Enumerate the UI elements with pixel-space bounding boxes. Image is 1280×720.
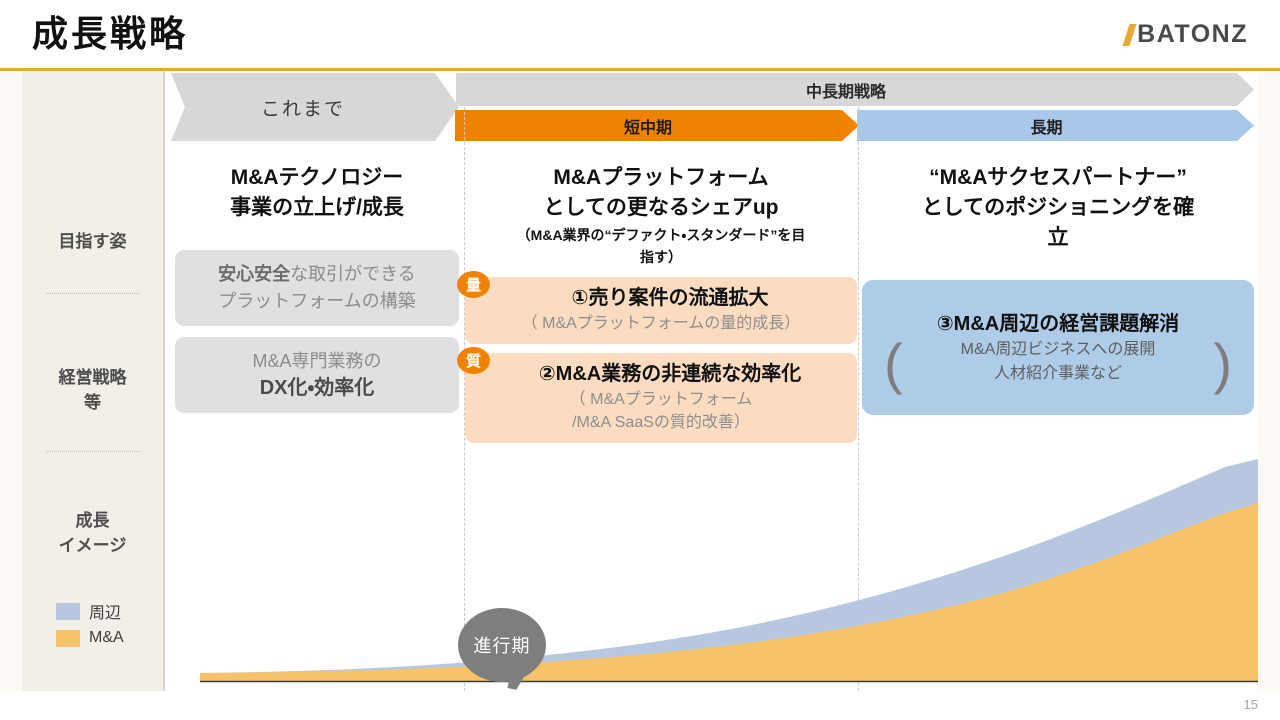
column-long-title-line1: “M&Aサクセスパートナー” xyxy=(862,163,1254,193)
legend-label-ma: M&A xyxy=(89,629,124,647)
long-strategy-sub-line1: M&A周辺ビジネスへの展開 xyxy=(961,338,1156,362)
growth-area-chart: 進行期 xyxy=(165,451,1258,691)
chart-legend: 周辺 M&A xyxy=(56,599,124,647)
phase-chevron-long: 長期 xyxy=(857,110,1254,141)
past-strategy-box-2-line1: M&A専門業務の xyxy=(183,348,451,375)
rail-label-strategy: 経営戦略 等 xyxy=(22,365,163,415)
phase-band-midlong: 中長期戦略 xyxy=(456,73,1254,106)
column-long: “M&Aサクセスパートナー” としてのポジショニングを確 立 ( ) ③M&A周… xyxy=(862,163,1254,415)
column-past-title: M&Aテクノロジー 事業の立上げ/成長 xyxy=(175,163,459,223)
legend-swatch-around xyxy=(56,603,80,620)
long-strategy-box: ( ) ③M&A周辺の経営課題解消 M&A周辺ビジネスへの展開 人材紹介事業など xyxy=(862,280,1254,415)
main-content: 中長期戦略 これまで 短中期 長期 M&Aテクノロジー 事業の立上げ/成長 安心… xyxy=(165,71,1258,691)
past-strategy-box-2: M&A専門業務の DX化・効率化 xyxy=(175,337,459,413)
column-short-mid-subtitle: （M&A業界の“デファクト・スタンダード”を目 指す） xyxy=(465,224,857,268)
legend-swatch-ma xyxy=(56,630,80,647)
column-long-title-line3: 立 xyxy=(862,223,1254,253)
short-mid-item-2-badge: 質 xyxy=(457,347,490,374)
column-long-title: “M&Aサクセスパートナー” としてのポジショニングを確 立 xyxy=(862,163,1254,253)
column-short-mid: M&Aプラットフォーム としての更なるシェアup （M&A業界の“デファクト・ス… xyxy=(465,163,857,443)
short-mid-item-2-sub-line2: /M&A SaaSの質的改善） xyxy=(475,411,847,434)
past-strategy-box-2-line2: DX化・効率化 xyxy=(183,375,451,402)
rail-label-strategy-line2: 等 xyxy=(22,390,163,415)
rail-label-strategy-line1: 経営戦略 xyxy=(22,365,163,390)
column-short-mid-subtitle-line2: 指す） xyxy=(465,246,857,268)
slide-footer: 15 xyxy=(0,691,1280,720)
short-mid-item-1-head: ①売り案件の流通拡大 xyxy=(475,284,847,312)
chart-annotation-label: 進行期 xyxy=(458,608,546,682)
past-strategy-box-1-rest: な取引ができる xyxy=(290,264,416,284)
rail-label-growth-image: 成長 イメージ xyxy=(22,508,163,558)
column-past-title-line1: M&Aテクノロジー xyxy=(175,163,459,193)
growth-chart-svg xyxy=(165,451,1258,691)
phase-banner-row: 中長期戦略 これまで 短中期 長期 xyxy=(165,71,1258,151)
column-short-mid-subtitle-line1: （M&A業界の“デファクト・スタンダード”を目 xyxy=(465,224,857,246)
slide-header: 成長戦略 BATONZ xyxy=(0,0,1280,70)
rail-label-vision: 目指す姿 xyxy=(22,229,163,254)
past-strategy-box-1-strong: 安心安全 xyxy=(218,264,290,284)
legend-item-around: 周辺 xyxy=(56,599,124,623)
phase-chevron-past: これまで xyxy=(171,73,459,141)
past-strategy-box-1-line2: プラットフォームの構築 xyxy=(183,288,451,315)
past-strategy-box-1-line1: 安心安全な取引ができる xyxy=(183,261,451,288)
column-past: M&Aテクノロジー 事業の立上げ/成長 安心安全な取引ができる プラットフォーム… xyxy=(175,163,459,413)
column-short-mid-title-line2: としての更なるシェアup xyxy=(465,193,857,223)
short-mid-item-2-sub-line1: （ M&Aプラットフォーム xyxy=(475,388,847,411)
rail-label-vision-text: 目指す姿 xyxy=(22,229,163,254)
short-mid-item-2: 質 ②M&A業務の非連続な効率化 （ M&Aプラットフォーム /M&A SaaS… xyxy=(465,353,857,443)
rail-dotted-separator-2 xyxy=(47,451,139,452)
long-strategy-head: ③M&A周辺の経営課題解消 xyxy=(937,310,1179,338)
short-mid-item-1-badge: 量 xyxy=(457,271,490,298)
page-number: 15 xyxy=(1244,697,1258,712)
long-strategy-paren-left: ( xyxy=(884,336,903,392)
brand-logo: BATONZ xyxy=(1126,20,1248,49)
long-strategy-sub-line2: 人材紹介事業など xyxy=(994,362,1122,386)
legend-label-around: 周辺 xyxy=(89,599,121,623)
rail-label-growth-line2: イメージ xyxy=(22,533,163,558)
phase-chevron-short-mid: 短中期 xyxy=(455,110,859,141)
legend-item-ma: M&A xyxy=(56,629,124,647)
slide: 成長戦略 BATONZ 目指す姿 経営戦略 等 成長 イメージ 周辺 xyxy=(0,0,1280,720)
brand-slash-icon xyxy=(1123,24,1137,46)
chart-annotation-bubble: 進行期 xyxy=(458,608,546,688)
page-title: 成長戦略 xyxy=(32,8,188,60)
brand-name: BATONZ xyxy=(1137,20,1248,49)
rail-dotted-separator-1 xyxy=(47,293,139,294)
column-long-title-line2: としてのポジショニングを確 xyxy=(862,193,1254,223)
short-mid-item-1-sub-line1: （ M&Aプラットフォームの量的成長） xyxy=(475,312,847,335)
short-mid-item-2-head: ②M&A業務の非連続な効率化 xyxy=(475,360,847,388)
long-strategy-paren-right: ) xyxy=(1213,336,1232,392)
column-short-mid-title: M&Aプラットフォーム としての更なるシェアup xyxy=(465,163,857,223)
column-short-mid-title-line1: M&Aプラットフォーム xyxy=(465,163,857,193)
short-mid-item-1: 量 ①売り案件の流通拡大 （ M&Aプラットフォームの量的成長） xyxy=(465,277,857,344)
column-past-title-line2: 事業の立上げ/成長 xyxy=(175,193,459,223)
rail-label-growth-line1: 成長 xyxy=(22,508,163,533)
slide-canvas: 目指す姿 経営戦略 等 成長 イメージ 周辺 M&A 中長期戦略 xyxy=(0,71,1280,691)
past-strategy-box-1: 安心安全な取引ができる プラットフォームの構築 xyxy=(175,250,459,326)
